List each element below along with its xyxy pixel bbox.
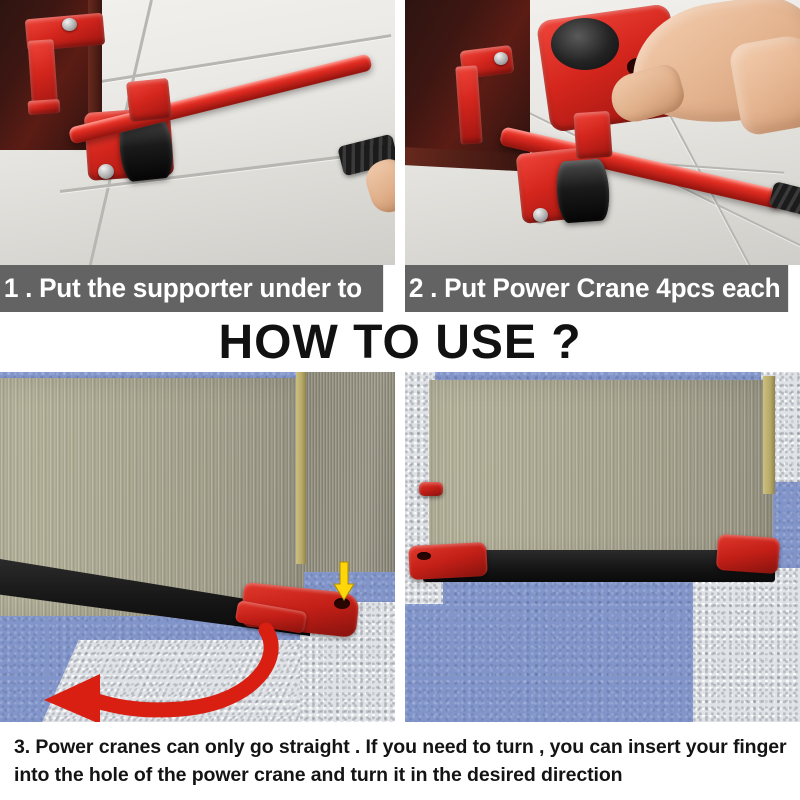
power-crane-left — [408, 542, 488, 580]
power-crane-far-left — [419, 482, 443, 496]
step-3-instruction-text: 3. Power cranes can only go straight . I… — [14, 733, 792, 795]
caption-row: 1 . Put the supporter under to 2 . Put P… — [0, 265, 800, 312]
bar-collar — [573, 111, 612, 159]
step-1-caption: 1 . Put the supporter under to — [0, 265, 383, 312]
roller-axle-bolt — [98, 164, 114, 179]
step-2-photo — [405, 0, 800, 265]
red-supporter-bracket-foot — [28, 99, 61, 115]
white-carpet-tile — [693, 568, 800, 722]
page-title: HOW TO USE ? — [0, 313, 800, 372]
crane-finger-hole — [417, 552, 431, 560]
roller-axle-bolt — [533, 208, 548, 222]
bottom-photo-row — [0, 372, 800, 722]
step-3-photo — [0, 372, 395, 722]
bracket-bolt — [494, 52, 508, 65]
how-to-use-infographic: 1 . Put the supporter under to 2 . Put P… — [0, 0, 800, 800]
step-2-caption: 2 . Put Power Crane 4pcs each — [405, 265, 788, 312]
step-1-photo — [0, 0, 395, 265]
cabinet-edge-trim — [763, 376, 775, 494]
cabinet-edge-trim — [296, 372, 306, 564]
roller-wheel — [555, 158, 611, 223]
top-photo-row — [0, 0, 800, 265]
yellow-down-arrow-icon — [333, 562, 355, 602]
step-4-photo — [405, 372, 800, 722]
power-crane-right — [716, 534, 780, 574]
red-turn-arrow-icon — [8, 624, 298, 722]
bar-collar — [126, 78, 172, 122]
crane-rubber-pad — [551, 18, 619, 70]
bracket-bolt — [62, 18, 77, 31]
cabinet-side-panel — [302, 372, 395, 572]
